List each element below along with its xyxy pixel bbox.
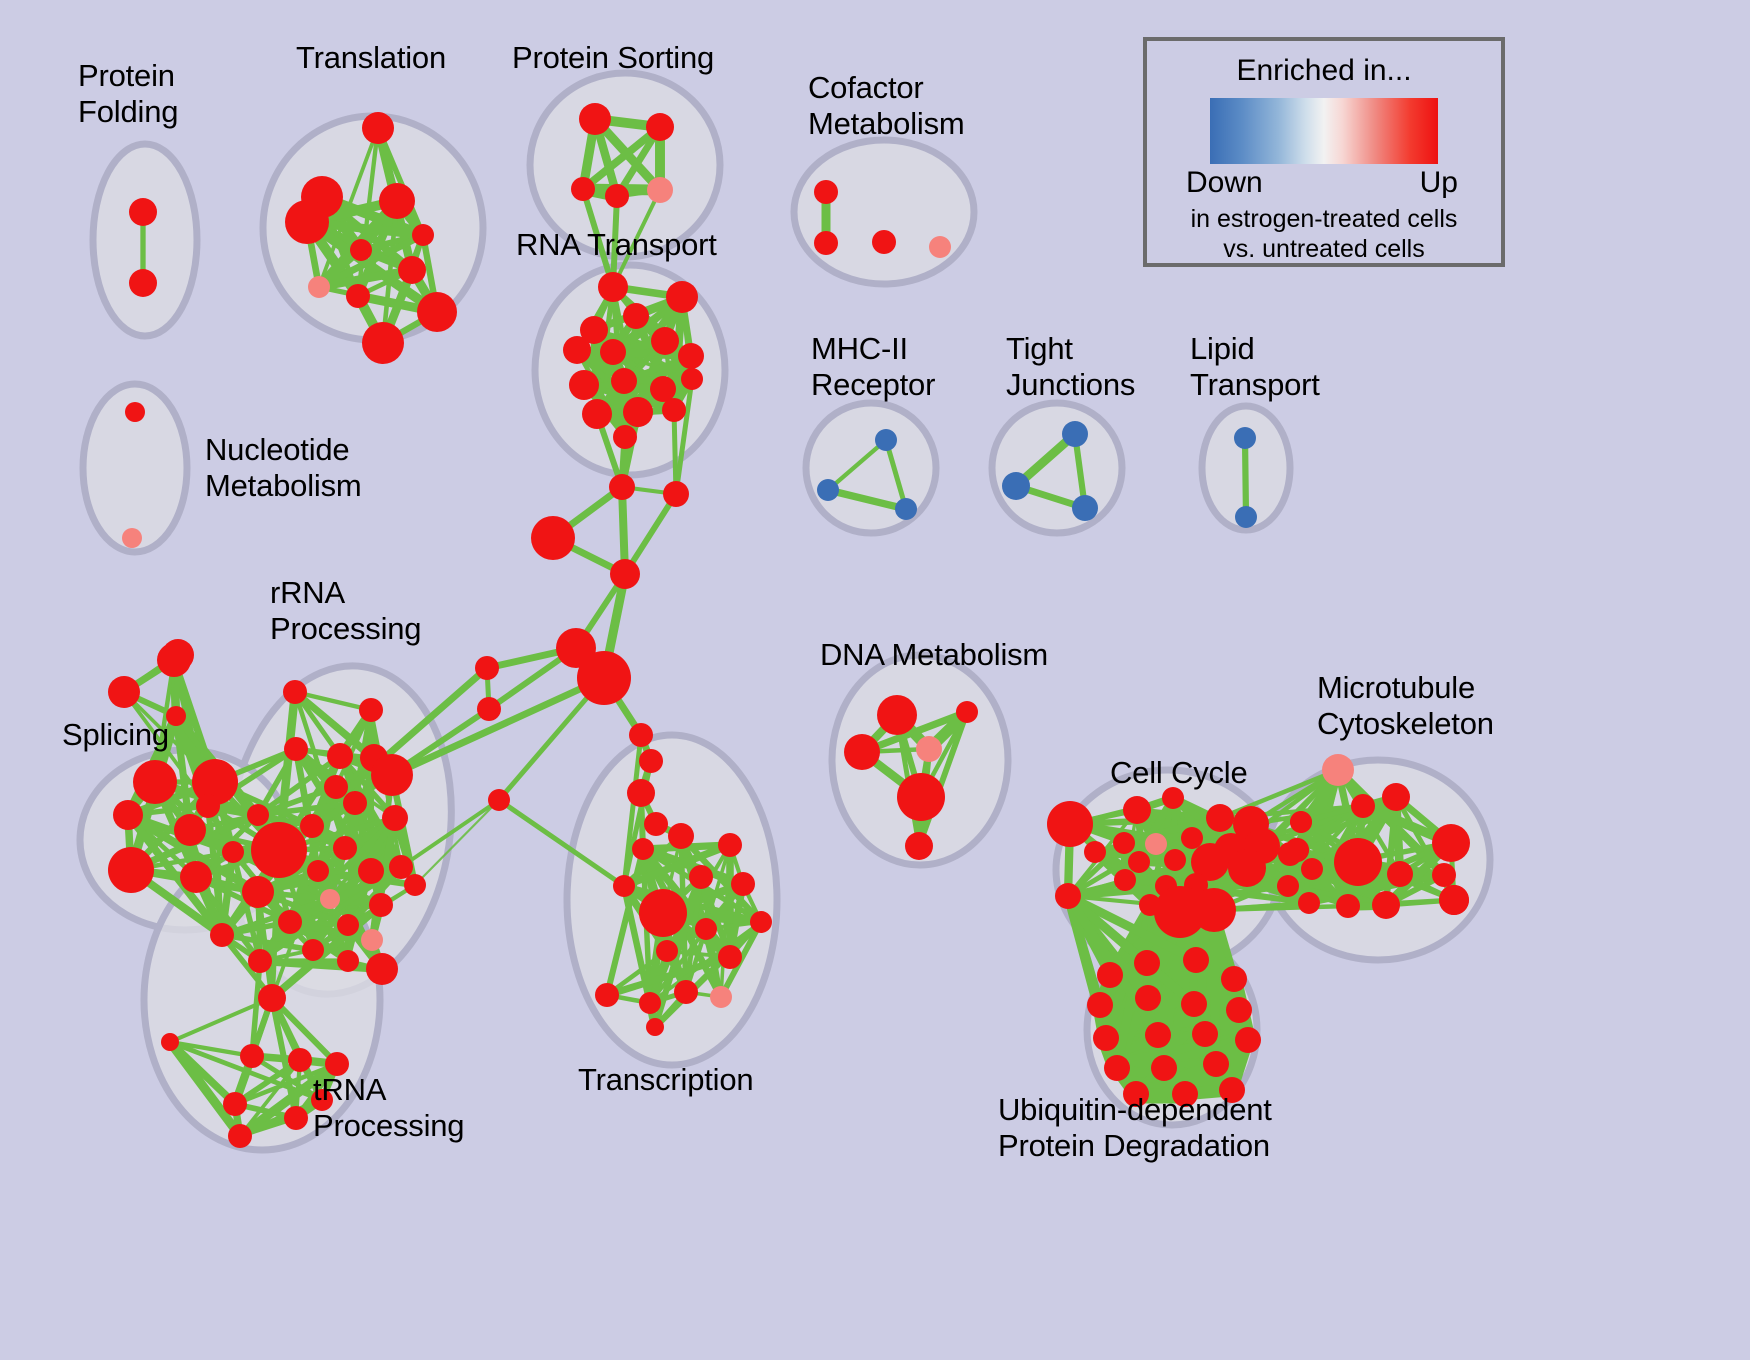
network-node <box>327 743 353 769</box>
network-node <box>668 823 694 849</box>
legend-subtitle-line-2: vs. untreated cells <box>1147 234 1501 264</box>
legend-endpoints: Down Up <box>1186 166 1462 204</box>
network-node <box>1228 849 1266 887</box>
network-node <box>1372 891 1400 919</box>
network-node <box>627 779 655 807</box>
network-node <box>1104 1055 1130 1081</box>
cluster-label-rrna-processing: rRNA Processing <box>270 575 421 647</box>
network-node <box>359 698 383 722</box>
network-node <box>362 322 404 364</box>
network-node <box>1181 991 1207 1017</box>
network-node <box>916 736 942 762</box>
network-node <box>210 923 234 947</box>
cluster-hull-mhc-ii-receptor <box>806 403 936 533</box>
network-node <box>285 200 329 244</box>
network-node <box>1093 1025 1119 1051</box>
network-node <box>632 838 654 860</box>
network-node <box>1183 947 1209 973</box>
enrichment-map-figure: Protein FoldingTranslationProtein Sortin… <box>0 0 1750 1360</box>
legend-color-bar <box>1210 98 1438 164</box>
cluster-label-transcription: Transcription <box>578 1062 753 1098</box>
network-node <box>358 858 384 884</box>
network-node <box>1432 824 1470 862</box>
network-node <box>1301 858 1323 880</box>
network-node <box>663 481 689 507</box>
cluster-label-protein-folding: Protein Folding <box>78 58 178 130</box>
network-node <box>389 855 413 879</box>
network-node <box>161 1033 179 1051</box>
network-node <box>610 559 640 589</box>
network-node <box>337 950 359 972</box>
network-node <box>122 528 142 548</box>
cluster-label-mhc-ii-receptor: MHC-II Receptor <box>811 331 935 403</box>
network-node <box>108 676 140 708</box>
network-node <box>1114 869 1136 891</box>
network-node <box>905 832 933 860</box>
network-node <box>283 680 307 704</box>
network-node <box>1439 885 1469 915</box>
network-node <box>113 800 143 830</box>
network-node <box>379 183 415 219</box>
network-node <box>288 1048 312 1072</box>
network-node <box>956 701 978 723</box>
network-node <box>689 865 713 889</box>
network-node <box>1290 811 1312 833</box>
network-node <box>814 180 838 204</box>
network-node <box>1145 833 1167 855</box>
network-node <box>1322 754 1354 786</box>
network-node <box>650 376 676 402</box>
network-node <box>300 814 324 838</box>
network-node <box>1192 888 1236 932</box>
network-node <box>475 656 499 680</box>
network-node <box>1134 950 1160 976</box>
network-node <box>678 343 704 369</box>
network-node <box>1062 421 1088 447</box>
network-node <box>1164 849 1186 871</box>
network-node <box>623 303 649 329</box>
network-node <box>651 327 679 355</box>
network-node <box>133 760 177 804</box>
network-node <box>623 397 653 427</box>
network-node <box>1113 832 1135 854</box>
cluster-label-splicing: Splicing <box>62 717 169 753</box>
network-node <box>1206 804 1234 832</box>
network-node <box>284 737 308 761</box>
cluster-hull-cofactor-metabolism <box>794 140 974 284</box>
network-node <box>308 276 330 298</box>
network-node <box>639 749 663 773</box>
network-node <box>814 231 838 255</box>
network-node <box>1382 783 1410 811</box>
network-node <box>180 861 212 893</box>
network-node <box>125 402 145 422</box>
network-node <box>710 986 732 1008</box>
network-node <box>613 875 635 897</box>
network-node <box>611 368 637 394</box>
network-node <box>1235 506 1257 528</box>
network-node <box>1047 801 1093 847</box>
legend-down-label: Down <box>1186 166 1263 200</box>
network-node <box>613 425 637 449</box>
network-node <box>1084 841 1106 863</box>
network-node <box>258 984 286 1012</box>
network-node <box>129 269 157 297</box>
network-node <box>307 860 329 882</box>
network-node <box>320 889 340 909</box>
network-node <box>674 980 698 1004</box>
legend-subtitle-line-1: in estrogen-treated cells <box>1147 204 1501 234</box>
network-node <box>247 804 269 826</box>
cluster-label-dna-metabolism: DNA Metabolism <box>820 637 1048 673</box>
network-node <box>605 184 629 208</box>
network-node <box>371 754 413 796</box>
network-node <box>1277 875 1299 897</box>
network-node <box>1235 1027 1261 1053</box>
network-node <box>656 940 678 962</box>
network-node <box>337 914 359 936</box>
network-node <box>600 339 626 365</box>
network-node <box>412 224 434 246</box>
network-node <box>1234 427 1256 449</box>
cluster-label-cofactor-metabolism: Cofactor Metabolism <box>808 70 965 142</box>
cluster-label-tight-junctions: Tight Junctions <box>1006 331 1135 403</box>
network-node <box>248 949 272 973</box>
network-node <box>222 841 244 863</box>
network-node <box>1002 472 1030 500</box>
network-node <box>1055 883 1081 909</box>
network-node <box>897 773 945 821</box>
network-node <box>284 1106 308 1130</box>
cluster-label-cell-cycle: Cell Cycle <box>1110 755 1248 791</box>
network-node <box>695 918 717 940</box>
network-node <box>563 336 591 364</box>
network-node <box>1285 838 1309 862</box>
network-node <box>1123 796 1151 824</box>
network-node <box>242 876 274 908</box>
network-node <box>639 889 687 937</box>
network-node <box>872 230 896 254</box>
network-node <box>895 498 917 520</box>
network-node <box>196 794 220 818</box>
network-node <box>251 822 307 878</box>
network-node <box>639 992 661 1014</box>
network-node <box>361 929 383 951</box>
network-node <box>681 368 703 390</box>
network-node <box>929 236 951 258</box>
network-node <box>731 872 755 896</box>
network-node <box>875 429 897 451</box>
network-node <box>1097 962 1123 988</box>
network-node <box>1072 495 1098 521</box>
cluster-label-microtubule: Microtubule Cytoskeleton <box>1317 670 1494 742</box>
network-node <box>629 723 653 747</box>
network-node <box>1334 838 1382 886</box>
network-node <box>1203 1051 1229 1077</box>
network-node <box>571 177 595 201</box>
network-node <box>844 734 880 770</box>
network-node <box>582 399 612 429</box>
network-node <box>1128 851 1150 873</box>
network-node <box>579 103 611 135</box>
network-node <box>302 939 324 961</box>
network-node <box>1432 863 1456 887</box>
network-node <box>718 945 742 969</box>
network-node <box>346 284 370 308</box>
cluster-label-ubiquitin: Ubiquitin-dependent Protein Degradation <box>998 1092 1272 1164</box>
network-node <box>646 113 674 141</box>
network-node <box>1221 966 1247 992</box>
network-node <box>369 893 393 917</box>
network-node <box>404 874 426 896</box>
network-node <box>1336 894 1360 918</box>
network-node <box>162 639 194 671</box>
network-node <box>129 198 157 226</box>
network-node <box>278 910 302 934</box>
network-node <box>595 983 619 1007</box>
cluster-label-rna-transport: RNA Transport <box>516 227 717 263</box>
network-node <box>362 112 394 144</box>
network-node <box>1181 827 1203 849</box>
network-node <box>1151 1055 1177 1081</box>
network-node <box>350 239 372 261</box>
network-node <box>647 177 673 203</box>
network-node <box>531 516 575 560</box>
network-node <box>644 812 668 836</box>
network-node <box>398 256 426 284</box>
network-node <box>817 479 839 501</box>
network-node <box>877 695 917 735</box>
network-node <box>646 1018 664 1036</box>
network-node <box>1351 794 1375 818</box>
network-node <box>240 1044 264 1068</box>
network-node <box>223 1092 247 1116</box>
network-node <box>609 474 635 500</box>
network-node <box>666 281 698 313</box>
cluster-label-protein-sorting: Protein Sorting <box>512 40 714 76</box>
cluster-label-translation: Translation <box>296 40 446 76</box>
network-node <box>228 1124 252 1148</box>
network-node <box>1135 985 1161 1011</box>
network-node <box>343 791 367 815</box>
network-node <box>1298 892 1320 914</box>
network-node <box>324 775 348 799</box>
legend-up-label: Up <box>1420 166 1458 200</box>
legend-box: Enriched in... Down Up in estrogen-treat… <box>1143 37 1505 267</box>
network-node <box>662 398 686 422</box>
network-node <box>1192 1021 1218 1047</box>
network-node <box>417 292 457 332</box>
legend-title: Enriched in... <box>1147 54 1501 88</box>
cluster-hull-tight-junctions <box>992 403 1122 533</box>
cluster-label-trna-processing: tRNA Processing <box>313 1072 464 1144</box>
network-node <box>382 805 408 831</box>
cluster-label-nucleotide-metabolism: Nucleotide Metabolism <box>205 432 362 504</box>
network-node <box>108 847 154 893</box>
network-node <box>488 789 510 811</box>
network-node <box>1387 861 1413 887</box>
network-node <box>598 272 628 302</box>
network-node <box>477 697 501 721</box>
network-node <box>1226 997 1252 1023</box>
network-node <box>718 833 742 857</box>
network-node <box>333 836 357 860</box>
network-node <box>1087 992 1113 1018</box>
network-edge <box>1245 438 1246 517</box>
network-node <box>166 706 186 726</box>
network-node <box>174 814 206 846</box>
network-node <box>1145 1022 1171 1048</box>
network-node <box>577 651 631 705</box>
network-node <box>366 953 398 985</box>
cluster-label-lipid-transport: Lipid Transport <box>1190 331 1320 403</box>
network-node <box>569 370 599 400</box>
network-node <box>750 911 772 933</box>
